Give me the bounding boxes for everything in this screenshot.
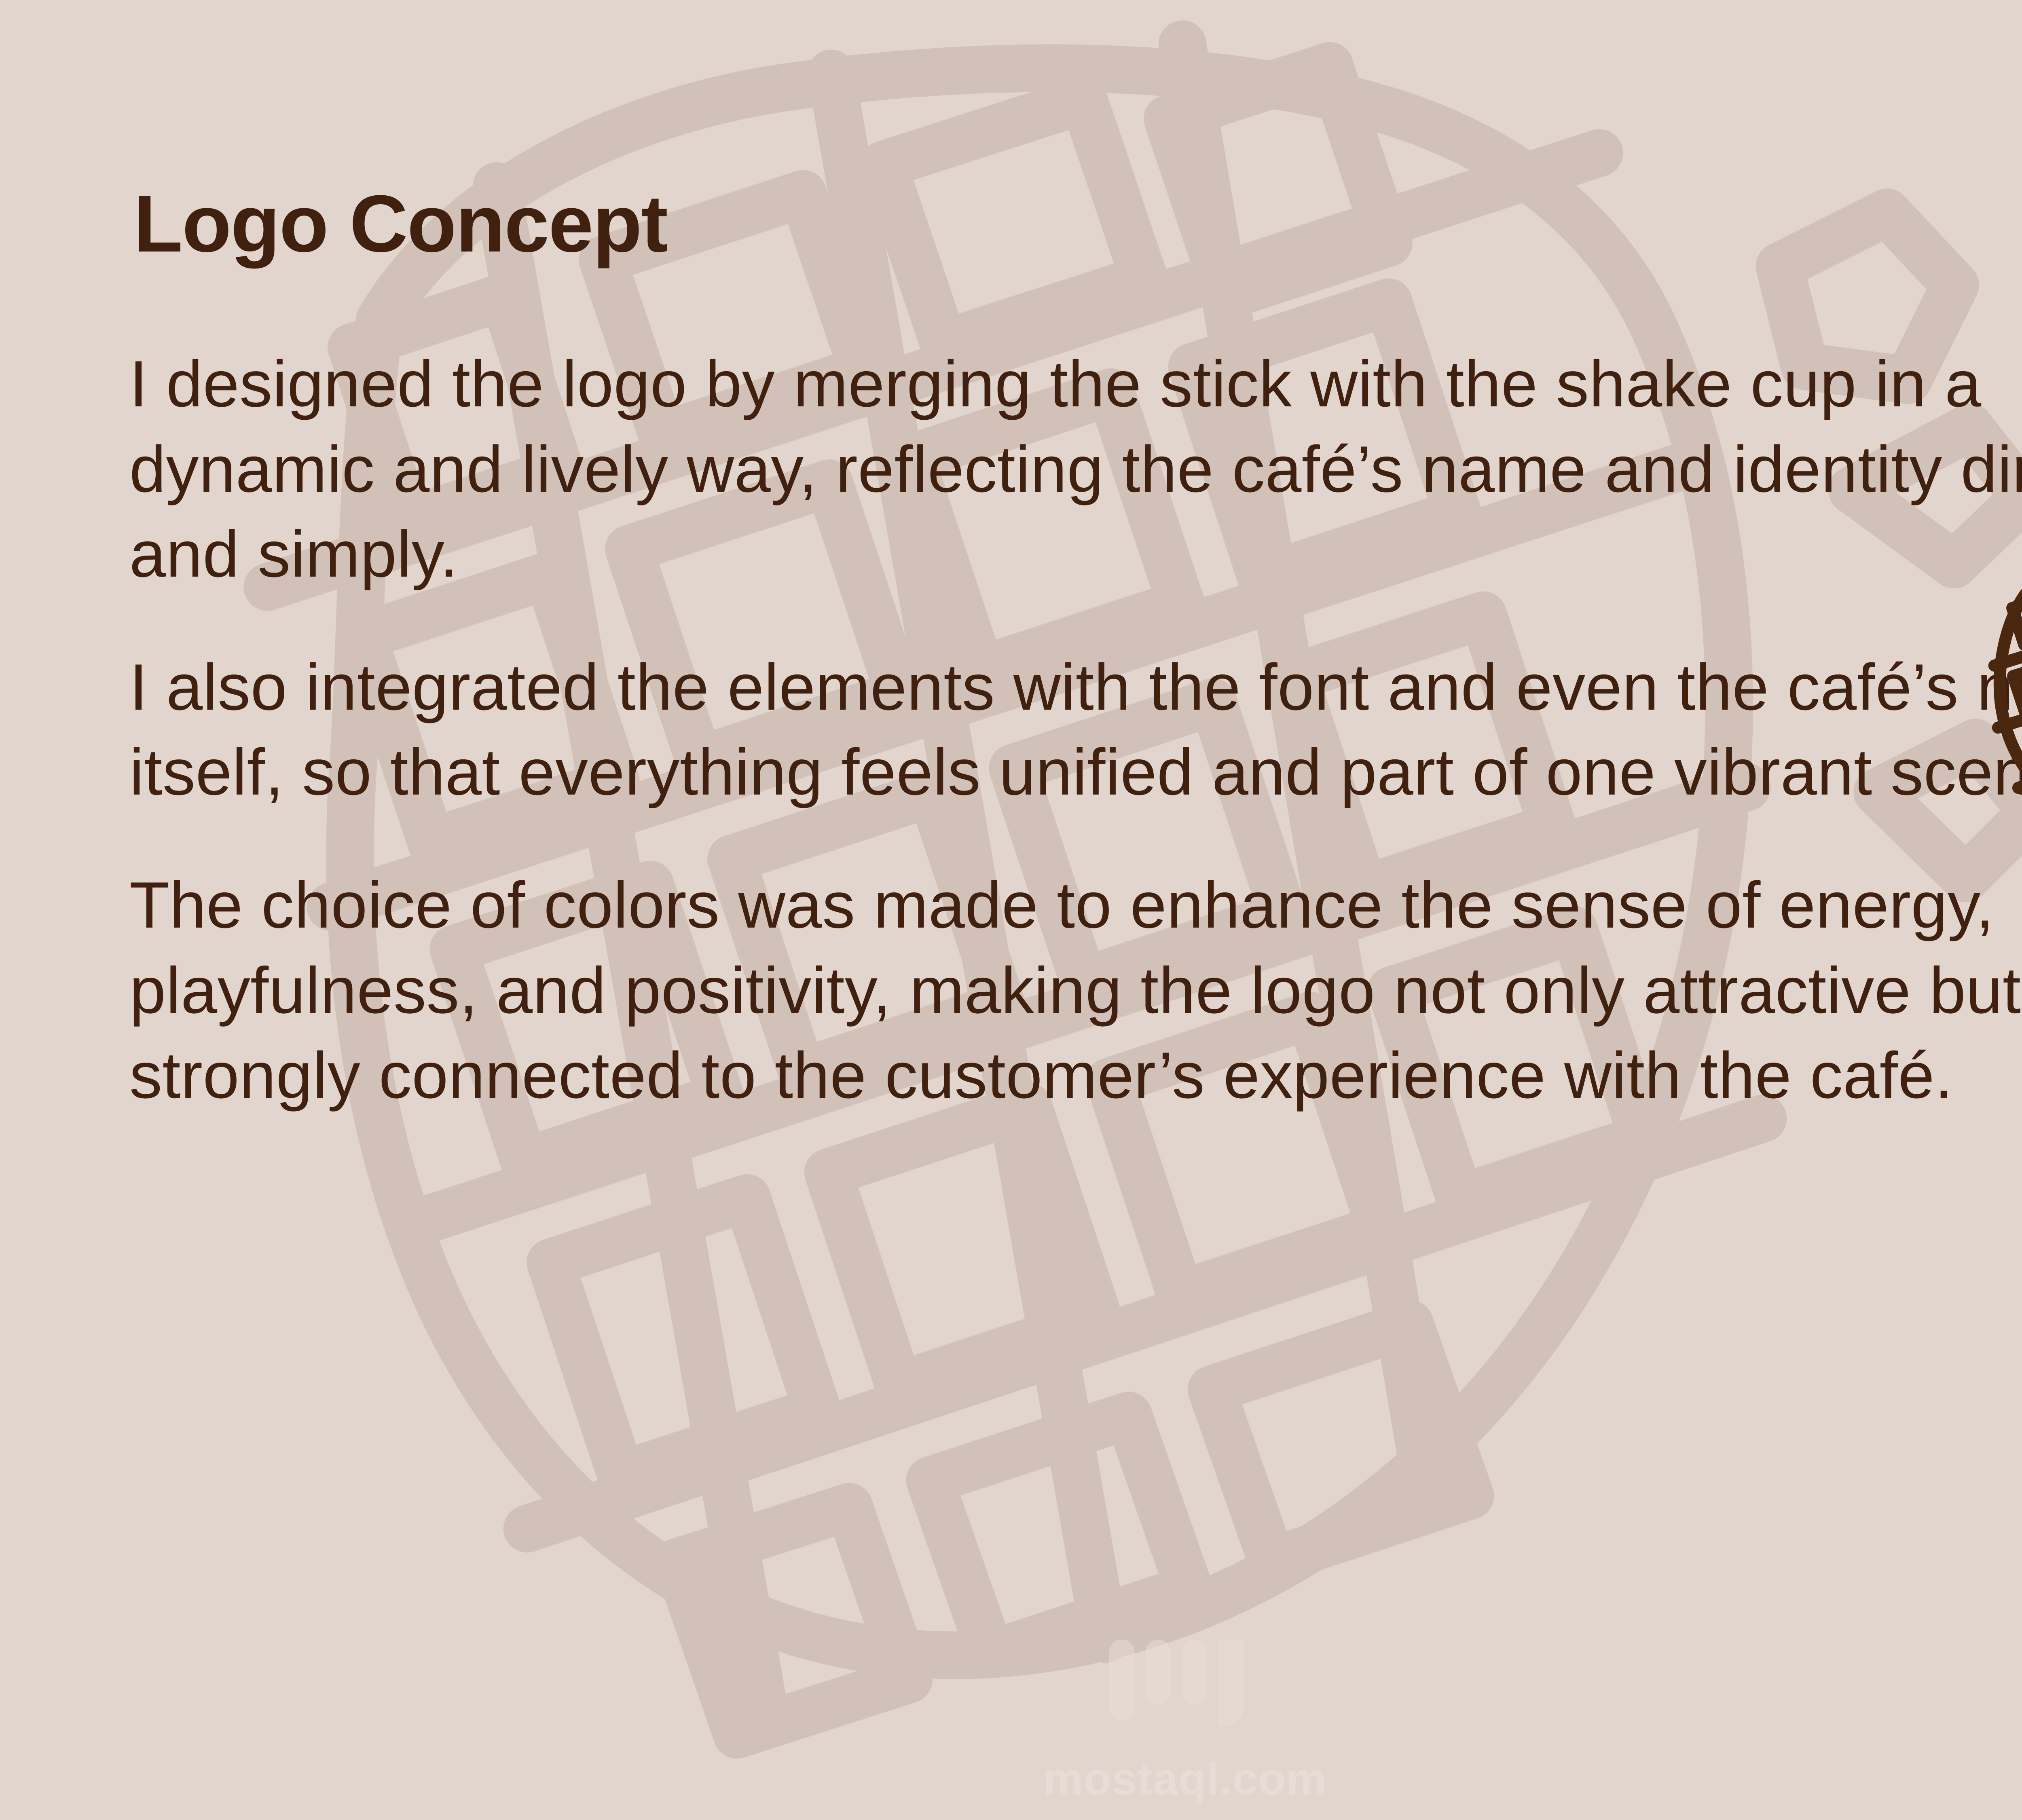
site-watermark: mostaql.com (1035, 1632, 1335, 1818)
body-copy: I designed the logo by merging the stick… (129, 342, 2022, 1118)
slide-canvas: mostaql.com Logo Concept I designed the … (0, 0, 2022, 1820)
paragraph: The choice of colors was made to enhance… (129, 863, 2022, 1118)
paragraph: I designed the logo by merging the stick… (129, 342, 2022, 597)
page-title: Logo Concept (133, 184, 667, 264)
mostaql-logo-icon (1098, 1632, 1272, 1753)
site-watermark-label: mostaql.com (1035, 1753, 1335, 1805)
paragraph: I also integrated the elements with the … (129, 645, 2022, 815)
waffle-icon (1963, 526, 2022, 849)
